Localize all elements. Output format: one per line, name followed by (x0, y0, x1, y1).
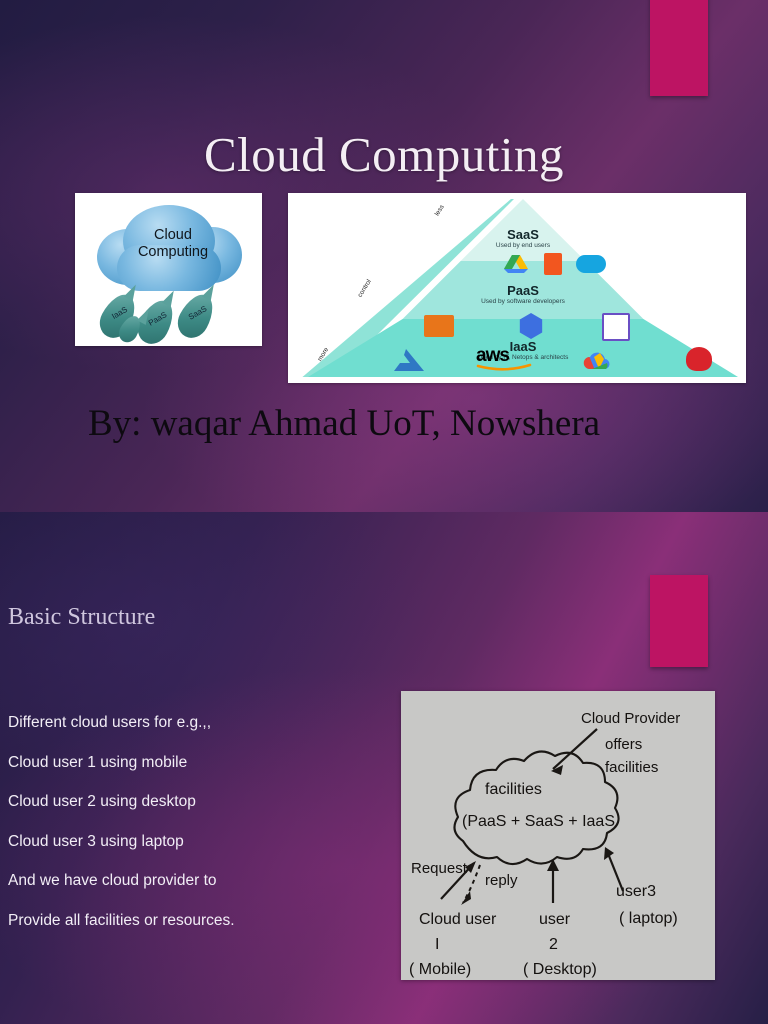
svg-text:facilities: facilities (605, 759, 658, 776)
cloud-logo-label-line2: Computing (123, 244, 223, 261)
pyramid-sublabel-paas: Used by software developers (308, 298, 738, 305)
raindrop-label-saas: SaaS (182, 302, 212, 325)
page-title: Cloud Computing (0, 126, 768, 183)
list-item: Provide all facilities or resources. (8, 912, 388, 930)
slide-1-title-slide: Cloud Computing Cloud Computing IaaS Paa… (0, 0, 768, 512)
google-cloud-icon (580, 349, 614, 371)
heroku-icon (602, 313, 630, 341)
pyramid-side-label-less: less (434, 204, 446, 218)
list-item: Cloud user 3 using laptop (8, 833, 388, 851)
list-item: And we have cloud provider to (8, 872, 388, 890)
handwritten-cloud-structure-sketch: facilities (PaaS + SaaS + IaaS Cloud Pro… (401, 691, 715, 980)
cloud-computing-logo-image: Cloud Computing IaaS PaaS SaaS (75, 193, 262, 346)
svg-text:user3: user3 (616, 883, 656, 900)
pyramid-label-paas: PaaS (308, 283, 738, 298)
svg-text:2: 2 (549, 936, 558, 953)
list-item: Different cloud users for e.g.,, (8, 714, 388, 732)
author-byline: By: waqar Ahmad UoT, Nowshera (88, 402, 708, 445)
sketch-svg: facilities (PaaS + SaaS + IaaS Cloud Pro… (401, 691, 715, 980)
cloud-logo-label: Cloud Computing (123, 227, 223, 261)
svg-text:facilities: facilities (485, 781, 542, 798)
svg-text:(PaaS + SaaS + IaaS: (PaaS + SaaS + IaaS (462, 813, 615, 830)
pyramid-sublabel-saas: Used by end users (308, 242, 738, 249)
svg-text:aws: aws (476, 345, 509, 366)
list-item: Cloud user 2 using desktop (8, 793, 388, 811)
svg-text:Request: Request (411, 860, 468, 877)
svg-text:Cloud Provider: Cloud Provider (581, 710, 680, 727)
svg-text:( laptop): ( laptop) (619, 910, 678, 927)
google-drive-icon (504, 255, 528, 273)
red-hat-icon (686, 347, 712, 371)
aws-icon: aws (474, 345, 534, 371)
pyramid-label-saas: SaaS (308, 227, 738, 242)
svg-text:reply: reply (485, 872, 518, 889)
svg-text:( Desktop): ( Desktop) (523, 961, 597, 978)
accent-bar-bottom (650, 575, 708, 667)
aws-elastic-beanstalk-icon (424, 315, 454, 337)
bullet-list: Different cloud users for e.g.,, Cloud u… (8, 714, 388, 951)
dropbox-icon (576, 255, 606, 273)
accent-bar-top (650, 0, 708, 96)
microsoft-azure-icon (394, 349, 424, 371)
svg-text:Cloud user: Cloud user (419, 911, 497, 928)
svg-text:user: user (539, 911, 571, 928)
presentation-page: Cloud Computing Cloud Computing IaaS Paa… (0, 0, 768, 1024)
slide-2-heading: Basic Structure (8, 604, 408, 631)
list-item: Cloud user 1 using mobile (8, 754, 388, 772)
cloud-service-model-pyramid-image: SaaS Used by end users PaaS Used by soft… (288, 193, 746, 383)
cloud-shape: Cloud Computing (97, 205, 242, 297)
svg-text:( Mobile): ( Mobile) (409, 961, 471, 978)
slack-icon (544, 253, 562, 275)
svg-text:I: I (435, 936, 439, 953)
cloud-logo-label-line1: Cloud (123, 227, 223, 244)
svg-text:offers: offers (605, 736, 642, 753)
pyramid-body: SaaS Used by end users PaaS Used by soft… (308, 199, 738, 377)
